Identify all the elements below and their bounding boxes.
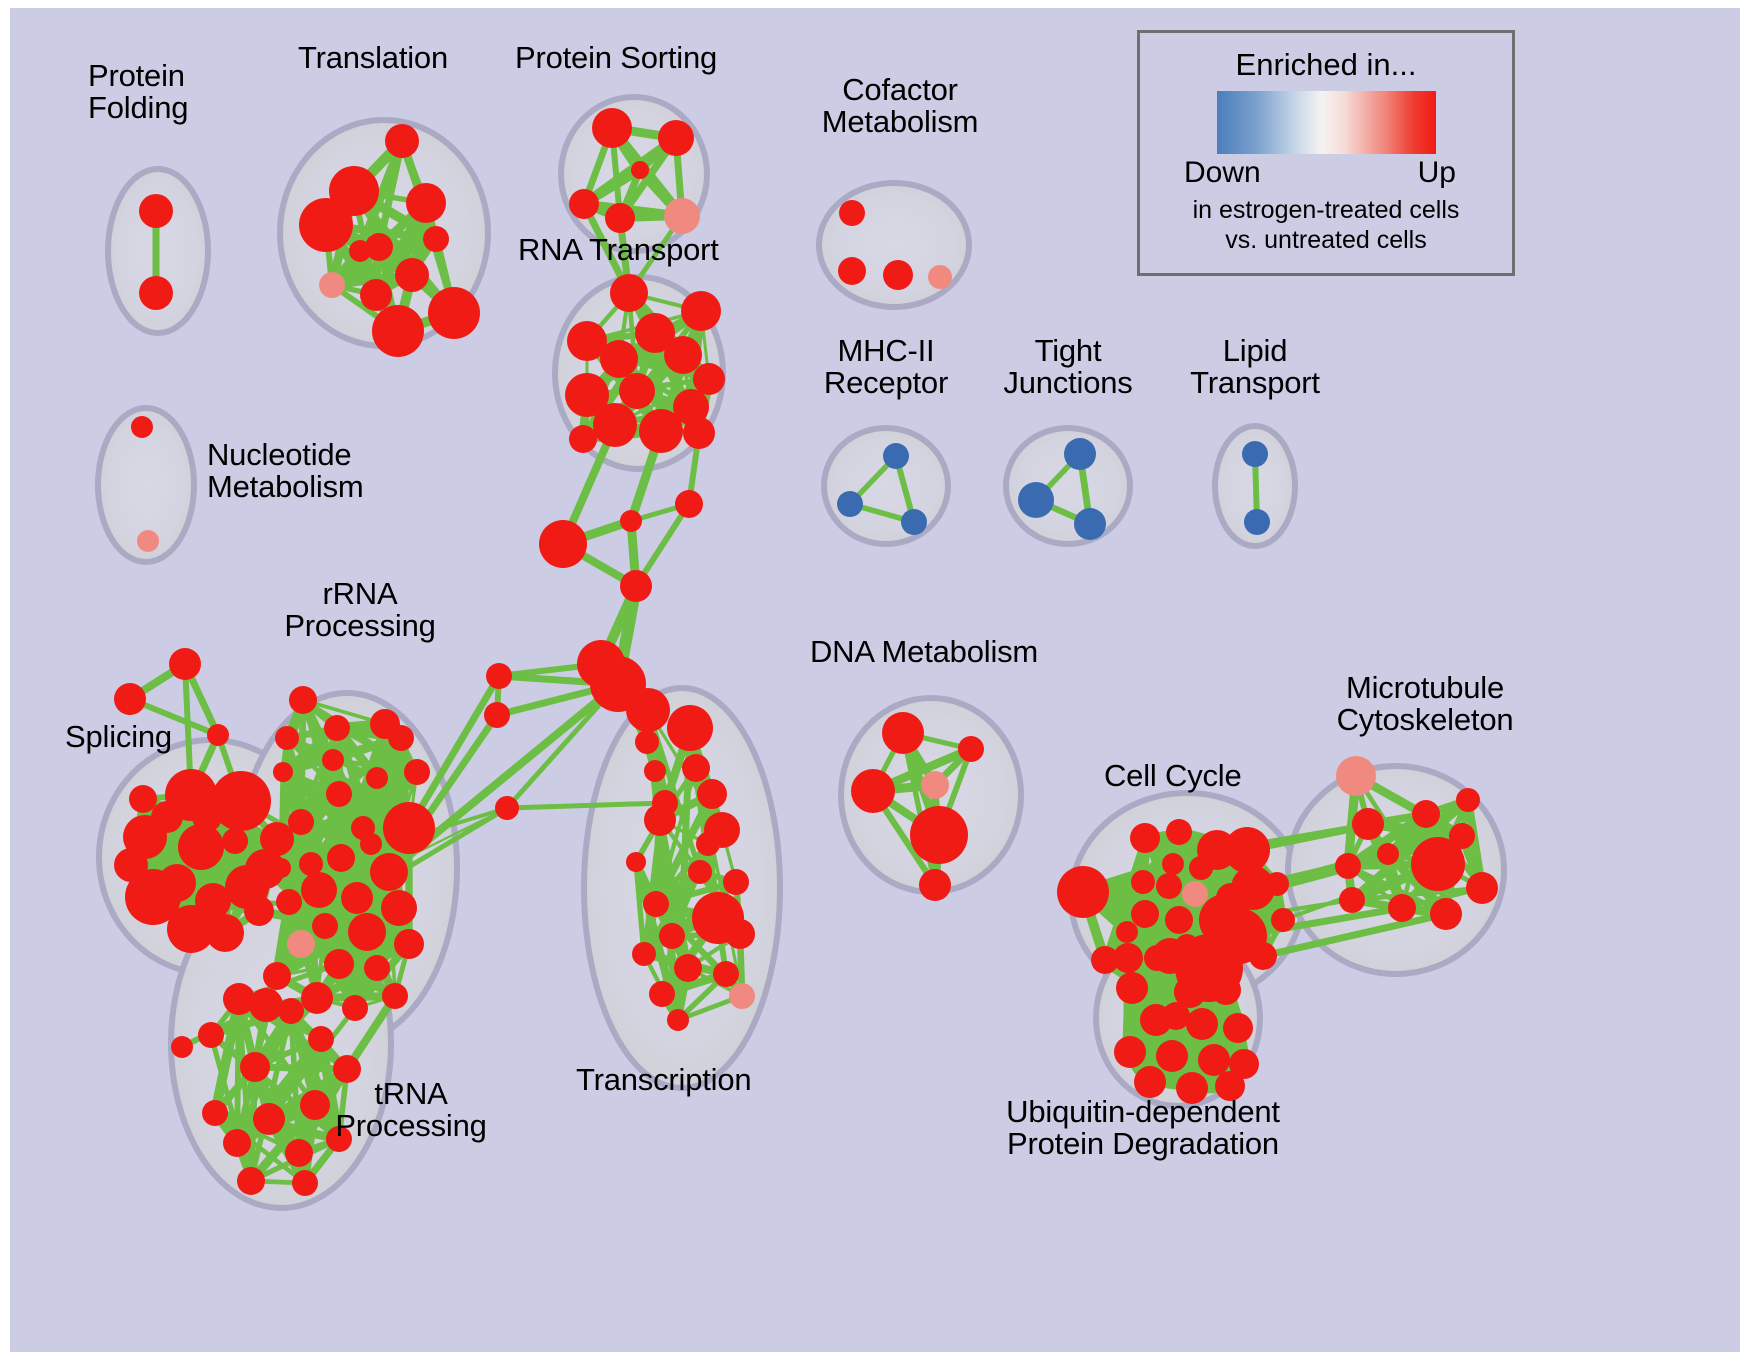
legend-color-bar — [1217, 91, 1436, 154]
network-node-nucleotide-metabolism — [137, 530, 159, 552]
network-node-rrna-processing — [360, 833, 382, 855]
network-node-cell-cycle — [1189, 856, 1213, 880]
network-node-rrna-processing — [341, 882, 373, 914]
network-node-mhc-ii-receptor — [837, 491, 863, 517]
network-node-translation — [423, 226, 449, 252]
network-node-rrna-processing — [288, 809, 314, 835]
network-node-tight-junctions — [1074, 508, 1106, 540]
network-node-rrna-processing — [312, 913, 338, 939]
network-node-trna-processing — [308, 1026, 334, 1052]
network-node-rrna-processing — [324, 949, 354, 979]
network-node-rna-transport — [610, 274, 648, 312]
network-node-bridge — [486, 663, 512, 689]
network-node-mhc-ii-receptor — [901, 509, 927, 535]
network-node-transcription — [696, 832, 720, 856]
network-node-cofactor-metabolism — [839, 200, 865, 226]
network-node-cell-cycle — [1162, 853, 1184, 875]
network-node-bridge — [539, 520, 587, 568]
network-node-microtubule-cytoskeleton — [1456, 788, 1480, 812]
network-node-bridge — [249, 988, 283, 1022]
network-node-protein-sorting — [605, 203, 635, 233]
network-node-translation — [372, 305, 424, 357]
network-node-transcription — [626, 852, 646, 872]
network-node-rrna-processing — [364, 955, 390, 981]
network-node-rrna-processing — [388, 725, 414, 751]
network-node-splicing — [222, 828, 248, 854]
network-node-protein-sorting — [569, 189, 599, 219]
legend-subtitle-line1: in estrogen-treated cells — [1140, 196, 1512, 224]
network-node-bridge — [590, 656, 646, 712]
network-node-bridge — [169, 648, 201, 680]
network-node-transcription — [688, 860, 712, 884]
cluster-ellipse-mhc-ii-receptor — [824, 428, 948, 544]
legend-title: Enriched in... — [1140, 47, 1512, 83]
network-node-bridge — [652, 790, 678, 816]
network-node-ubiquitin-protein-degradation — [1191, 945, 1221, 975]
network-node-rrna-processing — [324, 715, 350, 741]
network-node-cell-cycle — [1224, 827, 1270, 873]
network-node-rrna-processing — [287, 930, 315, 958]
network-node-rrna-processing — [275, 726, 299, 750]
network-node-rna-transport — [569, 425, 597, 453]
network-node-rrna-processing — [322, 749, 344, 771]
network-node-rrna-processing — [404, 759, 430, 785]
network-node-protein-sorting — [592, 108, 632, 148]
network-node-trna-processing — [202, 1100, 228, 1126]
network-node-rna-transport — [664, 336, 702, 374]
legend-box: Enriched in... Down Up in estrogen-treat… — [1137, 30, 1515, 276]
network-node-rrna-processing — [370, 853, 408, 891]
network-node-microtubule-cytoskeleton — [1411, 837, 1465, 891]
network-node-translation — [395, 258, 429, 292]
network-node-trna-processing — [333, 1055, 361, 1083]
network-node-rna-transport — [681, 291, 721, 331]
network-node-rrna-processing — [366, 767, 388, 789]
network-node-microtubule-cytoskeleton — [1352, 808, 1384, 840]
network-node-transcription — [682, 754, 710, 782]
network-node-transcription — [729, 983, 755, 1009]
network-node-ubiquitin-protein-degradation — [1116, 972, 1148, 1004]
network-node-tight-junctions — [1064, 438, 1096, 470]
network-node-cell-cycle — [1156, 873, 1182, 899]
network-node-dna-metabolism — [851, 769, 895, 813]
network-node-lipid-transport — [1244, 509, 1270, 535]
network-node-ubiquitin-protein-degradation — [1156, 1040, 1188, 1072]
legend-up-label: Up — [1418, 156, 1456, 190]
network-node-trna-processing — [223, 1129, 251, 1157]
network-node-rrna-processing — [394, 929, 424, 959]
network-node-translation — [349, 240, 371, 262]
network-node-transcription — [713, 961, 739, 987]
network-node-cell-cycle — [1130, 823, 1160, 853]
network-node-cofactor-metabolism — [928, 265, 952, 289]
network-node-rrna-processing — [383, 802, 435, 854]
network-node-rrna-processing — [299, 852, 323, 876]
network-node-microtubule-cytoskeleton — [1335, 853, 1361, 879]
network-node-rrna-processing — [348, 913, 386, 951]
network-node-cell-cycle — [1166, 819, 1192, 845]
network-node-bridge — [484, 702, 510, 728]
network-node-rrna-processing — [381, 890, 417, 926]
network-node-rrna-processing — [327, 844, 355, 872]
network-node-trna-processing — [198, 1022, 224, 1048]
network-node-trna-processing — [292, 1170, 318, 1196]
network-node-cofactor-metabolism — [838, 257, 866, 285]
network-node-dna-metabolism — [919, 869, 951, 901]
network-node-bridge — [675, 490, 703, 518]
network-node-ubiquitin-protein-degradation — [1211, 975, 1241, 1005]
network-node-transcription — [667, 1009, 689, 1031]
network-node-bridge — [635, 730, 659, 754]
network-node-cell-cycle — [1131, 870, 1155, 894]
network-node-rrna-processing — [382, 983, 408, 1009]
network-node-trna-processing — [237, 1167, 265, 1195]
network-node-rna-transport — [600, 340, 638, 378]
network-node-rna-transport — [619, 373, 655, 409]
network-node-dna-metabolism — [882, 712, 924, 754]
network-node-rrna-processing — [263, 962, 291, 990]
network-node-ubiquitin-protein-degradation — [1198, 1044, 1230, 1076]
network-node-cell-cycle — [1271, 908, 1295, 932]
network-node-cell-cycle — [1116, 921, 1138, 943]
network-node-cell-cycle — [1249, 942, 1277, 970]
network-node-transcription — [632, 942, 656, 966]
network-node-protein-sorting — [664, 198, 700, 234]
network-node-splicing — [206, 914, 244, 952]
network-node-ubiquitin-protein-degradation — [1186, 1008, 1218, 1040]
network-node-splicing — [225, 865, 269, 909]
network-node-dna-metabolism — [921, 771, 949, 799]
legend-subtitle-line2: vs. untreated cells — [1140, 226, 1512, 254]
network-node-transcription — [659, 923, 685, 949]
network-node-rrna-processing — [301, 872, 337, 908]
network-node-trna-processing — [300, 1090, 330, 1120]
network-node-ubiquitin-protein-degradation — [1176, 1072, 1208, 1104]
network-node-cell-cycle — [1265, 872, 1289, 896]
network-node-trna-processing — [326, 1126, 352, 1152]
network-node-translation — [299, 198, 353, 252]
network-node-protein-folding — [139, 276, 173, 310]
network-node-splicing — [178, 824, 224, 870]
network-node-lipid-transport — [1242, 441, 1268, 467]
network-node-protein-sorting — [658, 120, 694, 156]
network-node-translation — [406, 183, 446, 223]
network-node-transcription — [649, 981, 675, 1007]
network-node-transcription — [723, 869, 749, 895]
network-node-rrna-processing — [342, 995, 368, 1021]
network-node-bridge — [644, 760, 666, 782]
network-node-cofactor-metabolism — [883, 260, 913, 290]
network-node-transcription — [674, 954, 702, 982]
network-node-cell-cycle — [1182, 881, 1208, 907]
network-node-rrna-processing — [271, 858, 291, 878]
network-node-translation — [428, 287, 480, 339]
network-node-ubiquitin-protein-degradation — [1215, 1071, 1245, 1101]
network-node-translation — [360, 279, 392, 311]
network-node-bridge — [620, 570, 652, 602]
network-node-translation — [385, 124, 419, 158]
network-node-splicing — [192, 802, 222, 832]
network-node-dna-metabolism — [910, 806, 968, 864]
network-node-mhc-ii-receptor — [883, 443, 909, 469]
network-node-microtubule-cytoskeleton — [1466, 872, 1498, 904]
network-node-microtubule-cytoskeleton — [1388, 894, 1416, 922]
network-node-microtubule-cytoskeleton — [1336, 756, 1376, 796]
network-node-rrna-processing — [289, 686, 317, 714]
network-node-cell-cycle — [1057, 866, 1109, 918]
network-node-rna-transport — [683, 417, 715, 449]
network-node-protein-folding — [139, 194, 173, 228]
network-node-transcription — [667, 705, 713, 751]
network-node-tight-junctions — [1018, 482, 1054, 518]
network-node-microtubule-cytoskeleton — [1377, 843, 1399, 865]
network-node-trna-processing — [253, 1103, 285, 1135]
network-canvas: ProteinFolding Translation Protein Sorti… — [10, 8, 1740, 1352]
network-node-translation — [319, 272, 345, 298]
network-node-nucleotide-metabolism — [131, 416, 153, 438]
network-node-rna-transport — [593, 403, 637, 447]
network-node-bridge — [495, 796, 519, 820]
network-node-cell-cycle — [1131, 900, 1159, 928]
network-node-ubiquitin-protein-degradation — [1223, 1013, 1253, 1043]
network-node-rrna-processing — [273, 762, 293, 782]
network-node-dna-metabolism — [958, 736, 984, 762]
network-node-splicing — [129, 785, 157, 813]
network-node-trna-processing — [285, 1139, 313, 1167]
network-node-transcription — [697, 779, 727, 809]
network-node-splicing — [151, 801, 183, 833]
network-node-ubiquitin-protein-degradation — [1134, 1066, 1166, 1098]
network-node-protein-sorting — [631, 161, 649, 179]
network-node-microtubule-cytoskeleton — [1339, 887, 1365, 913]
figure-stage: ProteinFolding Translation Protein Sorti… — [0, 0, 1750, 1360]
network-node-bridge — [207, 724, 229, 746]
network-node-trna-processing — [240, 1052, 270, 1082]
network-node-ubiquitin-protein-degradation — [1114, 1036, 1146, 1068]
network-node-splicing — [260, 822, 294, 856]
network-node-rna-transport — [693, 363, 725, 395]
network-node-ubiquitin-protein-degradation — [1113, 943, 1143, 973]
legend-down-label: Down — [1184, 156, 1261, 190]
network-node-rrna-processing — [301, 982, 333, 1014]
network-node-microtubule-cytoskeleton — [1412, 800, 1440, 828]
network-node-rna-transport — [639, 409, 683, 453]
network-node-bridge — [171, 1036, 193, 1058]
network-node-transcription — [725, 919, 755, 949]
network-node-rrna-processing — [326, 781, 352, 807]
network-node-rrna-processing — [276, 889, 302, 915]
network-node-bridge — [114, 683, 146, 715]
network-node-bridge — [620, 510, 642, 532]
network-node-transcription — [643, 891, 669, 917]
network-node-microtubule-cytoskeleton — [1430, 898, 1462, 930]
network-node-ubiquitin-protein-degradation — [1152, 938, 1188, 974]
network-node-cell-cycle — [1216, 883, 1246, 913]
network-node-cell-cycle — [1165, 906, 1193, 934]
network-node-ubiquitin-protein-degradation — [1162, 1002, 1190, 1030]
network-node-splicing — [114, 848, 148, 882]
